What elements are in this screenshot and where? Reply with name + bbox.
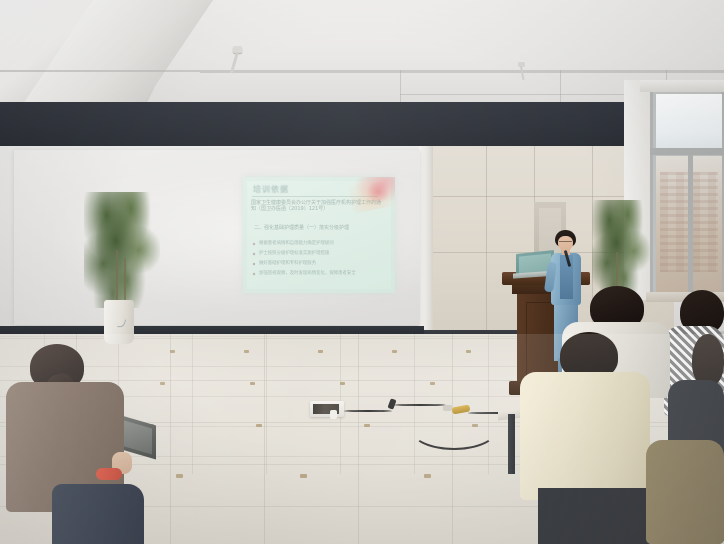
wall-panel-line	[486, 146, 487, 336]
window-header	[640, 80, 724, 92]
slide-bullet: 做好基础护理和专科护理服务	[259, 261, 383, 267]
ceiling-panel-divider	[400, 70, 401, 102]
slide-paragraph: 国家卫生健康委员会办公厅关于加强医疗机构护理工作的通知（国卫办医函〔2019〕1…	[251, 200, 385, 213]
ceiling-panel-line	[200, 72, 724, 73]
floor-cable	[344, 410, 392, 412]
tile-accent	[250, 382, 255, 385]
red-wristband	[96, 468, 122, 480]
plant-stem	[116, 250, 118, 304]
tile-accent	[300, 474, 307, 478]
tile-accent	[424, 474, 431, 478]
tile-accent	[256, 424, 262, 427]
dark-wall-band	[0, 102, 724, 146]
tile-accent	[160, 382, 165, 385]
potted-plant-left-foliage	[84, 192, 160, 308]
attendee-cream-hoodie-lower	[538, 488, 650, 544]
attendee-cream-hoodie	[520, 372, 650, 500]
slide-title: 培训依据	[253, 185, 289, 194]
attendee-olive-top	[646, 440, 724, 544]
tile-accent	[176, 474, 183, 478]
tile-accent	[364, 424, 370, 427]
tile-accent	[392, 350, 397, 353]
floor-cable	[394, 404, 446, 406]
tile-accent	[170, 350, 175, 353]
ceiling-sprinkler-icon	[233, 46, 242, 53]
desk-leg	[508, 414, 515, 474]
attendee-left-jeans	[52, 484, 144, 544]
slide-bullet: 加强巡视观察，及时发现病情变化，保障患者安全	[259, 271, 383, 277]
tile-accent	[340, 382, 345, 385]
floor-cable-loop	[410, 408, 498, 450]
slide-subhead: 二、强化基础护理质量（一）落实分级护理	[254, 225, 384, 231]
wall-pillar	[419, 146, 433, 336]
band-highlight	[0, 102, 724, 146]
window-mullion-vertical	[688, 155, 693, 295]
slide-bullet: 根据患者病情和自理能力确定护理级别	[259, 241, 383, 247]
presentation-room-photo: 培训依据 国家卫生健康委员会办公厅关于加强医疗机构护理工作的通知（国卫办医函〔2…	[0, 0, 724, 544]
wall-panel-line	[424, 196, 628, 197]
ceiling	[0, 0, 724, 104]
window-upper-pane	[656, 94, 722, 150]
tile-accent	[466, 350, 471, 353]
slide-bullet: 护士按照分级护理标准实施护理措施	[259, 251, 383, 257]
projected-slide: 培训依据 国家卫生健康委员会办公厅关于加强医疗机构护理工作的通知（国卫办医函〔2…	[243, 177, 395, 293]
plant-stem	[124, 258, 126, 304]
attendee-dark-jacket-hair	[692, 334, 724, 386]
glasses-icon	[559, 241, 572, 245]
tile-accent	[430, 382, 435, 385]
power-plug-icon	[330, 410, 337, 419]
tile-accent	[244, 350, 249, 353]
ceiling-sprinkler-icon	[518, 62, 525, 67]
tile-accent	[318, 350, 323, 353]
window-mullion-horizontal	[650, 148, 724, 155]
slide-title-rule	[252, 196, 378, 197]
ceiling-panel-divider	[560, 70, 561, 102]
